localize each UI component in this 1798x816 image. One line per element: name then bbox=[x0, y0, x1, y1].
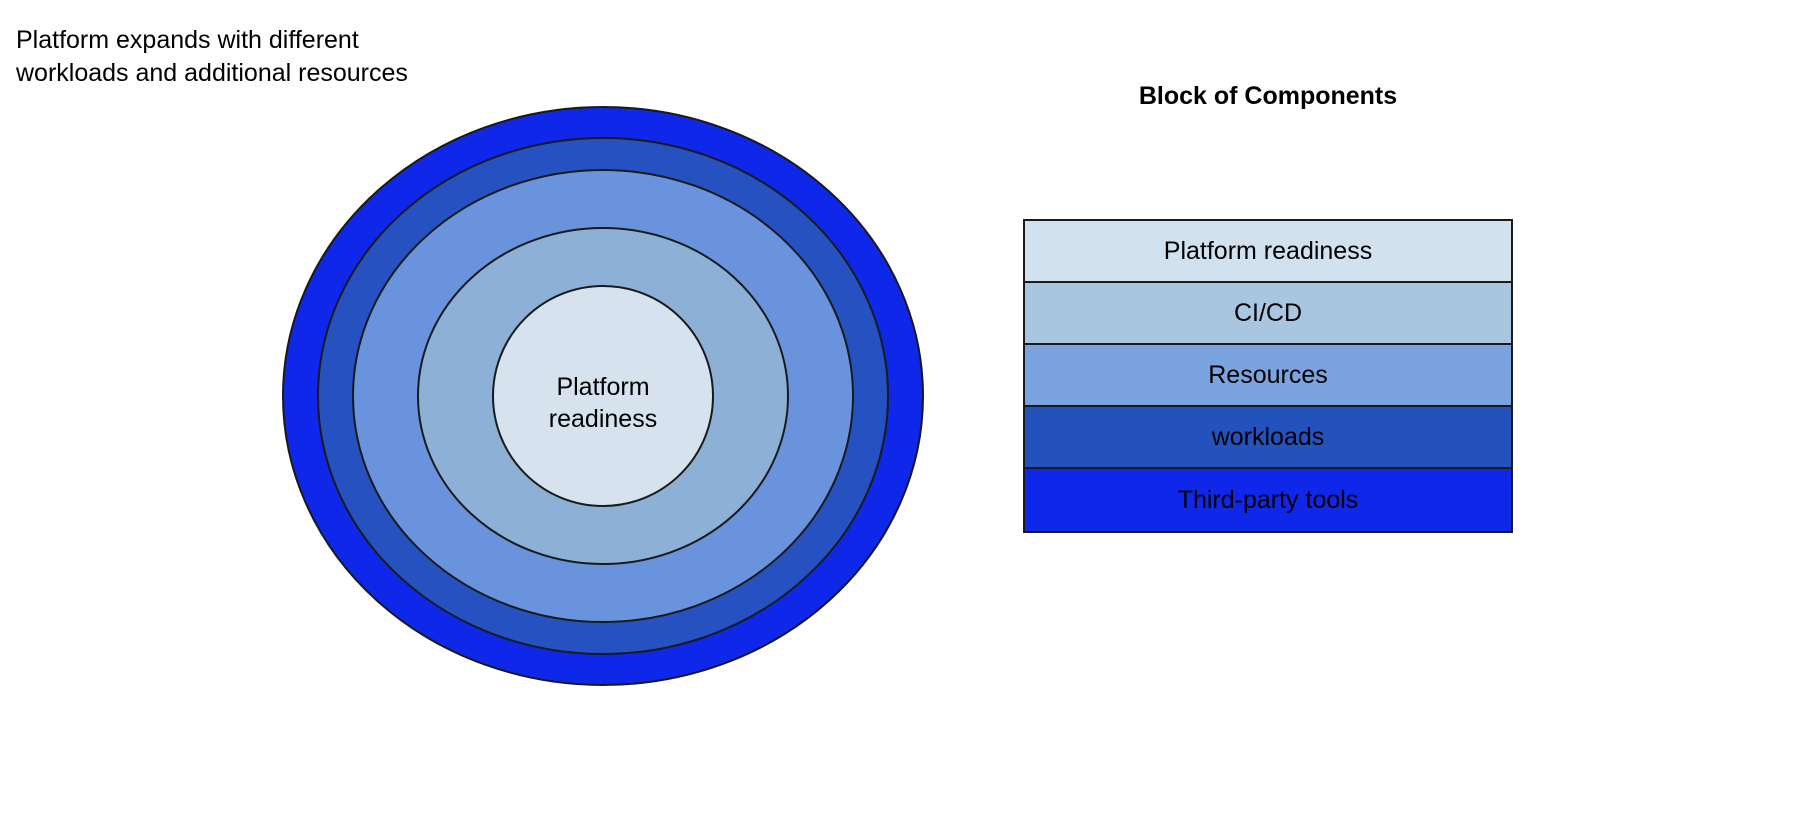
component-band-workloads: workloads bbox=[1025, 407, 1511, 469]
component-band-label: Platform readiness bbox=[1164, 237, 1372, 266]
component-band-resources: Resources bbox=[1025, 345, 1511, 407]
components-legend-box: Platform readiness CI/CD Resources workl… bbox=[1023, 219, 1513, 533]
diagram-caption: Platform expands with different workload… bbox=[16, 24, 408, 90]
components-panel-title: Block of Components bbox=[1023, 82, 1513, 111]
component-band-label: Third-party tools bbox=[1178, 486, 1359, 515]
component-band-label: Resources bbox=[1208, 361, 1328, 390]
component-band-cicd: CI/CD bbox=[1025, 283, 1511, 345]
component-band-third-party-tools: Third-party tools bbox=[1025, 469, 1511, 531]
concentric-rings-diagram: Platform readiness bbox=[283, 107, 923, 685]
center-label-line2: readiness bbox=[549, 405, 657, 433]
component-band-label: workloads bbox=[1212, 423, 1325, 452]
component-band-label: CI/CD bbox=[1234, 299, 1302, 328]
component-band-platform-readiness: Platform readiness bbox=[1025, 221, 1511, 283]
center-label-line1: Platform bbox=[556, 373, 649, 401]
